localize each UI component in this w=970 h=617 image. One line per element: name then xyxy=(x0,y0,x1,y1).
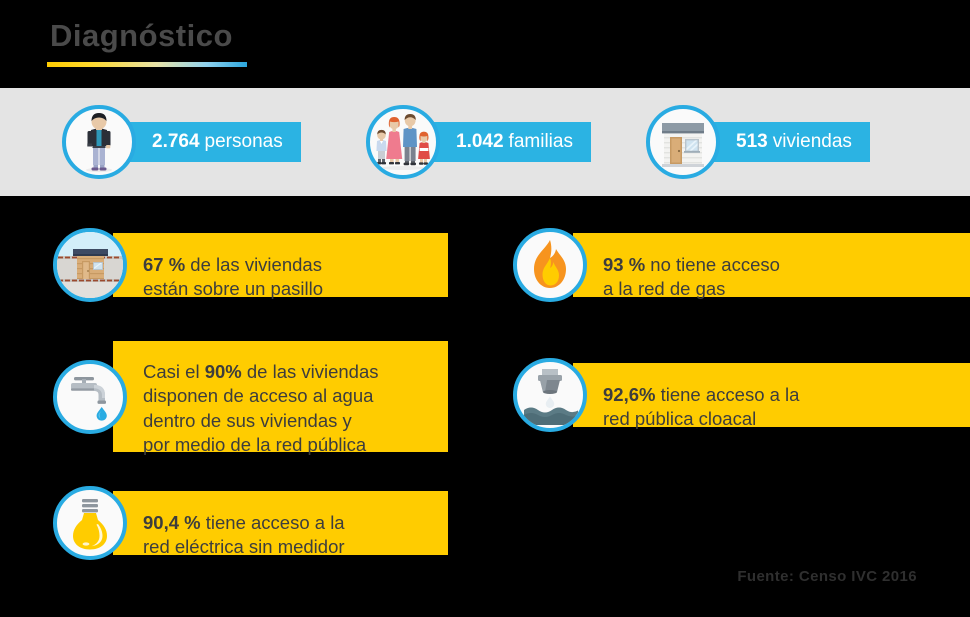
family-icon xyxy=(366,105,440,179)
fact-electrica-value: 90,4 % xyxy=(143,512,201,533)
drain-water-icon xyxy=(513,358,587,432)
fact-pasillo-value: 67 % xyxy=(143,254,185,275)
flame-icon xyxy=(513,228,587,302)
fact-card-electrica-text: 90,4 % tiene acceso a la red eléctrica s… xyxy=(113,491,448,555)
lightbulb-icon xyxy=(53,486,127,560)
summary-stats-band: 2.764 personas xyxy=(0,88,970,196)
source-note: Fuente: Censo IVC 2016 xyxy=(737,568,917,585)
house-icon xyxy=(646,105,720,179)
stat-personas-label: personas xyxy=(205,131,283,153)
infographic-page: Diagnóstico xyxy=(0,0,970,617)
fact-card-pasillo-text: 67 % de las viviendas están sobre un pas… xyxy=(113,233,448,297)
stat-viviendas-bar: 513 viviendas xyxy=(708,122,870,162)
stat-personas: 2.764 personas xyxy=(62,105,301,179)
facts-section: 67 % de las viviendas están sobre un pas… xyxy=(0,196,970,617)
fact-card-agua-text: Casi el 90% de las viviendas disponen de… xyxy=(113,341,448,452)
stat-personas-value: 2.764 xyxy=(152,131,200,153)
fact-card-gas: 93 % no tiene acceso a la red de gas xyxy=(513,228,970,302)
person-icon xyxy=(62,105,136,179)
header: Diagnóstico xyxy=(0,0,970,88)
stat-viviendas-label: viviendas xyxy=(773,131,852,153)
stat-familias-label: familias xyxy=(509,131,573,153)
stat-personas-bar: 2.764 personas xyxy=(124,122,301,162)
stat-viviendas: 513 viviendas xyxy=(646,105,870,179)
stat-familias: 1.042 familias xyxy=(366,105,591,179)
fact-agua-value: 90% xyxy=(205,361,242,382)
stat-familias-bar: 1.042 familias xyxy=(428,122,591,162)
fact-card-cloacal-text: 92,6% tiene acceso a la red pública cloa… xyxy=(573,363,970,427)
faucet-icon xyxy=(53,360,127,434)
fact-card-pasillo: 67 % de las viviendas están sobre un pas… xyxy=(53,228,448,302)
stat-familias-value: 1.042 xyxy=(456,131,504,153)
corridor-house-icon xyxy=(53,228,127,302)
fact-card-gas-text: 93 % no tiene acceso a la red de gas xyxy=(573,233,970,297)
page-title: Diagnóstico xyxy=(50,18,233,54)
title-underline-rule xyxy=(47,62,247,67)
fact-card-electrica: 90,4 % tiene acceso a la red eléctrica s… xyxy=(53,486,448,560)
fact-agua-prefix: Casi el xyxy=(143,361,205,382)
fact-gas-value: 93 % xyxy=(603,254,645,275)
fact-card-cloacal: 92,6% tiene acceso a la red pública cloa… xyxy=(513,358,970,432)
fact-cloacal-value: 92,6% xyxy=(603,384,655,405)
stat-viviendas-value: 513 xyxy=(736,131,768,153)
fact-card-agua: Casi el 90% de las viviendas disponen de… xyxy=(53,341,448,452)
